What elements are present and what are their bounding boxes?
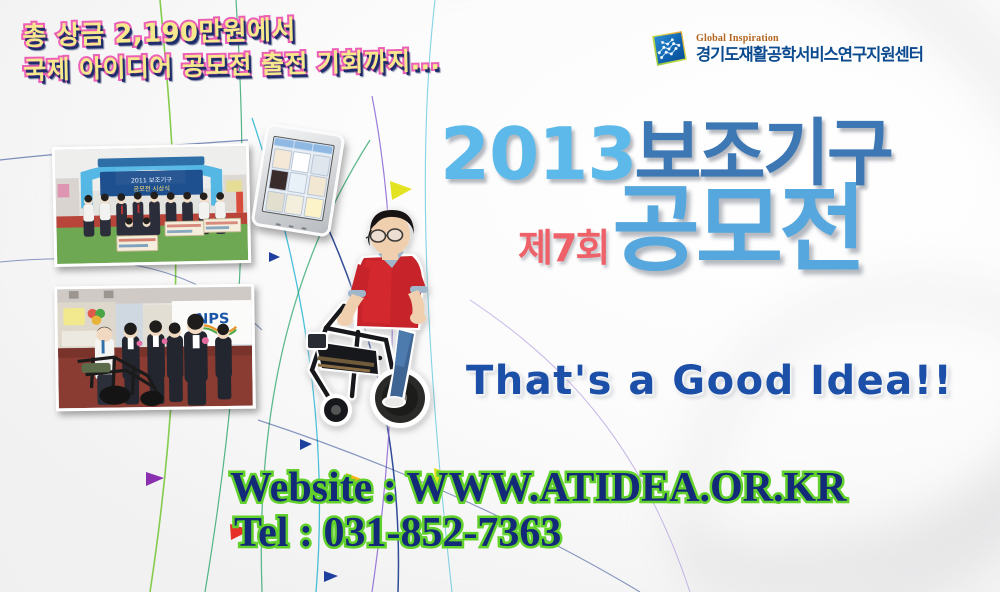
logo-tagline: Global Inspiration [696,34,923,44]
title-contest: 공모전 [612,184,862,276]
poster-tagline: That's a Good Idea!! [466,358,953,404]
tablet-screen [262,136,335,222]
exhibition-booth-photo: NPS [54,284,256,412]
contact-block: Website : WWW.ATIDEA.OR.KR Tel : 031-852… [230,466,846,555]
logo-organization-name: 경기도재활공학서비스연구지원센터 [696,47,923,64]
telephone-line: Tel : 031-852-7363 [234,511,846,556]
award-ceremony-photo: 2011 보조기구 공모전 시상식 [52,143,251,267]
marker-triangle [146,472,164,486]
marker-triangle [324,571,338,582]
svg-text:공모전 시상식: 공모전 시상식 [133,184,170,193]
network-cube-logo-icon [649,29,690,70]
title-edition: 제7회 [518,226,608,270]
poster-root: 총 상금 2,190만원에서 국제 아이디어 공모전 출전 기회까지... [0,0,1000,592]
title-year: 2013 [440,118,636,190]
headline-block: 총 상금 2,190만원에서 국제 아이디어 공모전 출전 기회까지... [22,10,441,88]
marker-triangle [269,252,280,262]
marker-triangle [390,181,412,200]
website-line[interactable]: Website : WWW.ATIDEA.OR.KR [230,466,846,511]
organization-logo: Global Inspiration 경기도재활공학서비스연구지원센터 [650,30,923,68]
marker-triangle [300,439,312,450]
poster-title-block: 2013 보조기구 제7회 공모전 [440,118,891,276]
